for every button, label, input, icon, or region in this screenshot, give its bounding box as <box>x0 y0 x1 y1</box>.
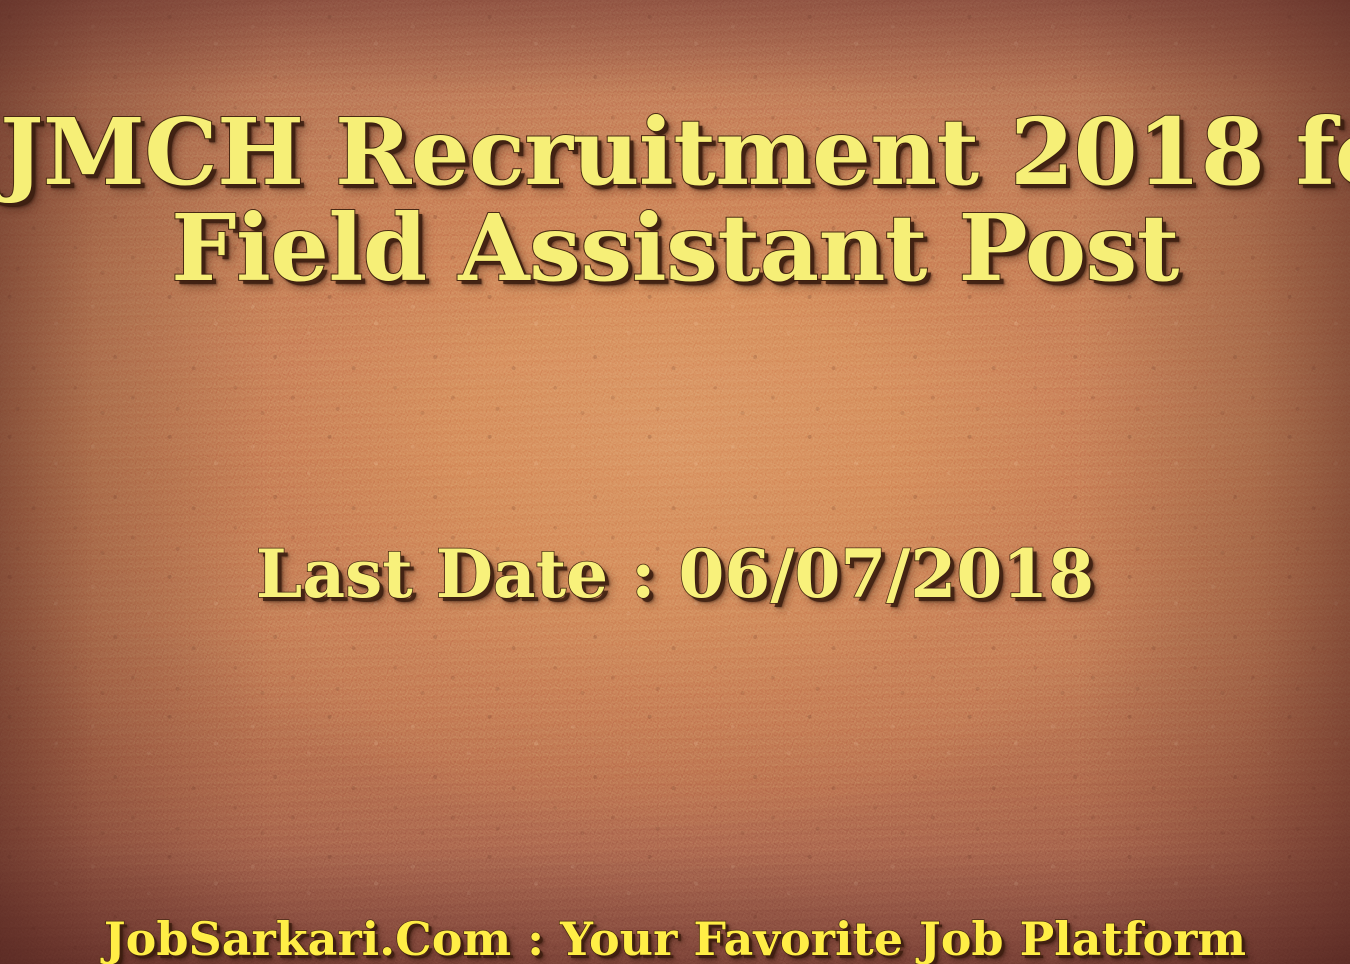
page-title-line-2: Field Assistant Post <box>0 202 1350 294</box>
poster-content: JMCH Recruitment 2018 for Field Assistan… <box>0 0 1350 964</box>
last-date-label: Last Date : 06/07/2018 <box>0 536 1350 612</box>
page-title-line-1: JMCH Recruitment 2018 for <box>0 106 1350 198</box>
job-notification-poster: JMCH Recruitment 2018 for Field Assistan… <box>0 0 1350 964</box>
page-title: JMCH Recruitment 2018 for Field Assistan… <box>0 106 1350 294</box>
footer-tagline: JobSarkari.Com : Your Favorite Job Platf… <box>0 912 1350 964</box>
